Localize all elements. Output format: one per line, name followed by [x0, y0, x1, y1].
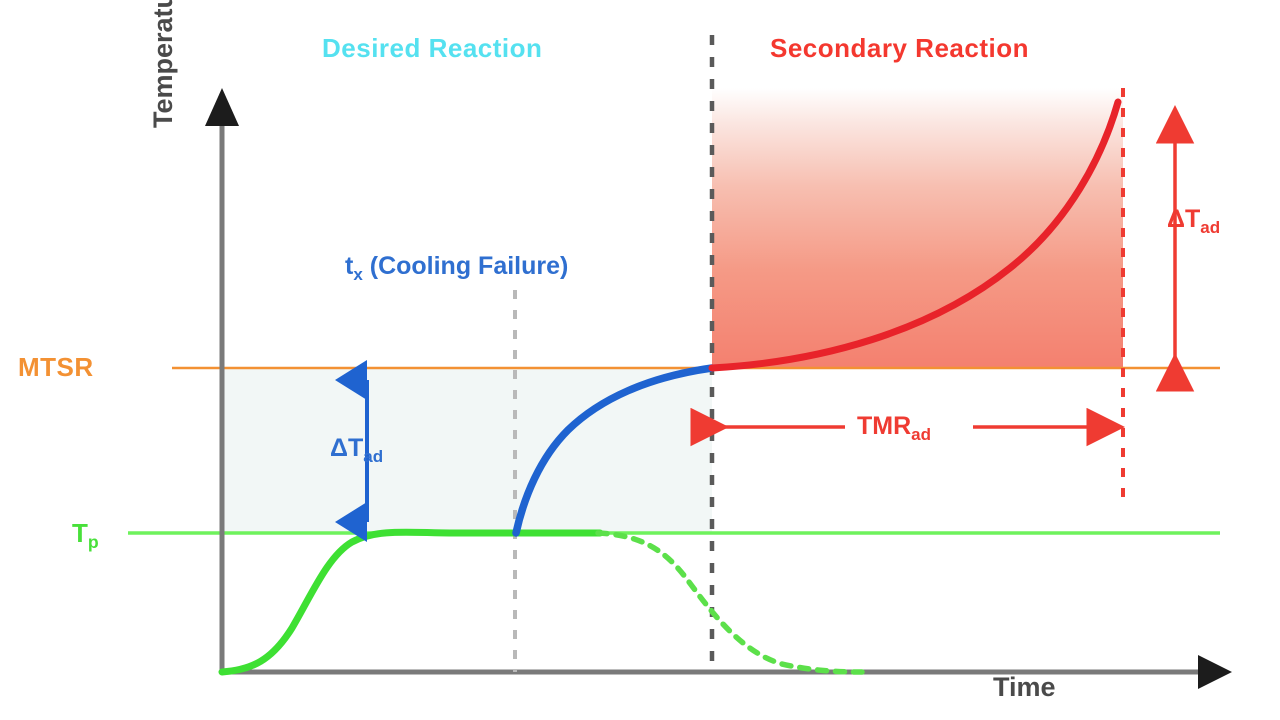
- delta-t-ad-right-subscript: ad: [1200, 218, 1220, 237]
- tx-rest: (Cooling Failure): [363, 252, 569, 280]
- tmr-ad-label: TMRad: [857, 412, 931, 445]
- header-secondary-reaction: Secondary Reaction: [770, 33, 1029, 64]
- mtsr-label: MTSR: [18, 352, 94, 383]
- tp-base: T: [72, 518, 88, 548]
- y-axis-label: Temperature: [148, 0, 179, 128]
- delta-t-ad-right-base: ΔT: [1167, 205, 1200, 233]
- x-axis-arrowhead: [1198, 655, 1232, 689]
- desired-reaction-shade: [222, 368, 712, 533]
- delta-t-ad-right-label: ΔTad: [1167, 205, 1220, 238]
- tmr-ad-subscript: ad: [911, 425, 931, 444]
- tp-subscript: p: [88, 532, 99, 552]
- y-axis-arrowhead: [205, 88, 239, 126]
- green-cooled-dashed-curve: [598, 533, 862, 672]
- delta-t-ad-left-label: ΔTad: [330, 434, 383, 467]
- diagram-graphics: [0, 0, 1280, 720]
- header-desired-reaction: Desired Reaction: [322, 33, 542, 64]
- tmr-ad-base: TMR: [857, 412, 911, 440]
- delta-t-ad-left-subscript: ad: [363, 447, 383, 466]
- tx-cooling-failure-label: tx (Cooling Failure): [345, 252, 568, 285]
- diagram-canvas: Desired Reaction Secondary Reaction tx (…: [0, 0, 1280, 720]
- green-process-curve: [222, 532, 600, 672]
- tx-subscript: x: [353, 265, 362, 284]
- x-axis-label: Time: [993, 672, 1056, 703]
- delta-t-ad-left-base: ΔT: [330, 434, 363, 462]
- tp-label: Tp: [72, 518, 99, 553]
